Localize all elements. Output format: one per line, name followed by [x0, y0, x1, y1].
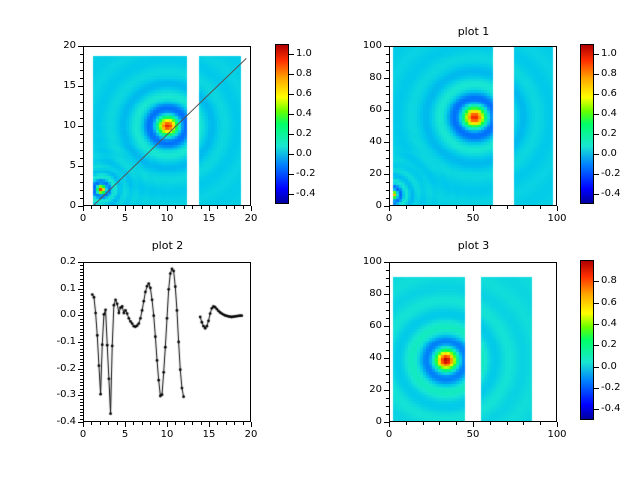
y-tick-label: 0 [349, 417, 382, 427]
y-tick-label: 80 [349, 289, 382, 299]
x-tick-minor [490, 422, 491, 425]
axes-area-plot3 [389, 262, 557, 422]
y-tick-label: 40 [349, 353, 382, 363]
chart-title: plot 3 [366, 240, 581, 252]
y-tick-minor [386, 342, 389, 343]
colorbar-tick-label: -0.4 [601, 404, 621, 414]
x-tick-minor [507, 422, 508, 425]
x-tick-label: 100 [547, 430, 566, 440]
x-tick-minor [557, 422, 558, 425]
y-tick-label: 20 [349, 385, 382, 395]
y-tick-minor [386, 294, 389, 295]
colorbar-tick-label: 0.8 [601, 276, 617, 286]
x-tick-label: 0 [386, 430, 392, 440]
y-tick-minor [386, 390, 389, 391]
x-tick-minor [439, 422, 440, 425]
y-tick-minor [386, 326, 389, 327]
colorbar-tick-label: 0.0 [601, 362, 617, 372]
x-tick-minor [540, 422, 541, 425]
x-tick-minor [523, 422, 524, 425]
y-tick-minor [386, 262, 389, 263]
colorbar-tick-label: -0.2 [601, 383, 621, 393]
x-tick-minor [456, 422, 457, 425]
y-tick-minor [386, 414, 389, 415]
heatmap-canvas [390, 263, 556, 421]
x-tick-minor [406, 422, 407, 425]
colorbar-tick [594, 281, 599, 282]
colorbar-tick-label: 0.2 [601, 340, 617, 350]
y-tick-minor [386, 350, 389, 351]
y-tick-label: 60 [349, 321, 382, 331]
y-tick-minor [386, 358, 389, 359]
y-tick-minor [386, 334, 389, 335]
y-tick-minor [386, 318, 389, 319]
colorbar-tick-label: 0.6 [601, 298, 617, 308]
y-tick-minor [386, 366, 389, 367]
y-tick-minor [386, 270, 389, 271]
y-tick-minor [386, 398, 389, 399]
x-tick-label: 50 [467, 430, 480, 440]
colorbar-tick [594, 367, 599, 368]
colorbar-plot3 [580, 260, 594, 420]
colorbar-tick [594, 345, 599, 346]
x-tick-minor [389, 422, 390, 425]
y-tick-minor [386, 406, 389, 407]
y-tick-minor [386, 422, 389, 423]
y-tick-minor [386, 374, 389, 375]
y-tick-minor [386, 382, 389, 383]
colorbar-tick [594, 409, 599, 410]
y-tick-minor [386, 302, 389, 303]
y-tick-label: 100 [349, 257, 382, 267]
panel-plot3: plot 3050100020406080100-0.4-0.20.00.20.… [0, 0, 640, 480]
x-tick-minor [473, 422, 474, 425]
colorbar-tick [594, 388, 599, 389]
y-tick-minor [386, 286, 389, 287]
figure-canvas: 0510152005101520-0.4-0.20.00.20.40.60.81… [0, 0, 640, 480]
colorbar-tick [594, 324, 599, 325]
x-tick-minor [423, 422, 424, 425]
colorbar-tick-label: 0.4 [601, 319, 617, 329]
y-tick-minor [386, 310, 389, 311]
y-tick-minor [386, 278, 389, 279]
colorbar-tick [594, 303, 599, 304]
